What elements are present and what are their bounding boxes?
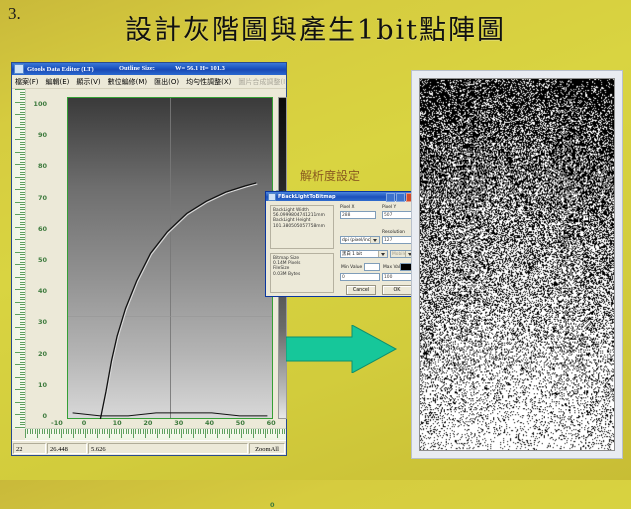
x-tick: 30: [174, 419, 183, 427]
y-tick: 20: [38, 350, 47, 358]
x-tick: 0: [82, 419, 87, 427]
chevron-down-icon[interactable]: [370, 237, 379, 243]
menu-export[interactable]: 匯出(O): [154, 77, 179, 87]
x-tick: 50: [236, 419, 245, 427]
luminance-curve-svg: [68, 98, 273, 419]
bitmap-output-panel: [411, 70, 623, 459]
min-color-swatch[interactable]: [364, 263, 380, 271]
y-tick: 90: [38, 131, 47, 139]
status-cell-x: 26.448: [47, 443, 87, 454]
backlight-to-bitmap-dialog: FBackLightToBitmap BackLight Width 56.09…: [265, 191, 418, 297]
backlight-height-value: 101.380505057758mm: [273, 224, 331, 229]
min-value-label: Min Value: [341, 265, 362, 270]
y-tick: 80: [38, 162, 47, 170]
backlight-info-group: BackLight Width 56.0999804741211mm BackL…: [270, 205, 334, 249]
cancel-button[interactable]: Cancel: [346, 285, 376, 295]
color-depth-value: 黑白 1 bit: [342, 252, 362, 257]
app-menubar: 檔案(F) 編輯(E) 顯示(V) 數位編修(M) 匯出(O) 均勻性調整(X)…: [12, 75, 286, 89]
pixel-x-input[interactable]: 288: [340, 211, 376, 219]
right-zero-label: 0: [270, 501, 275, 509]
x-tick: 20: [143, 419, 152, 427]
pixel-y-label: Pixel Y: [382, 205, 396, 210]
bitmap-info-group: Bitmap Size 0.14M Pixels FileSize 0.03M …: [270, 253, 334, 293]
y-tick: 30: [38, 318, 47, 326]
pixel-x-label: Pixel X: [340, 205, 355, 210]
y-tick: 50: [38, 256, 47, 264]
app-icon: [14, 64, 24, 74]
filesize-bytes-value: 0.03M Bytes: [273, 272, 331, 277]
status-zoom-all[interactable]: ZoomAll: [249, 443, 285, 454]
y-tick: 40: [38, 287, 47, 295]
outline-size-values: W= 56.1 H= 101.3: [175, 65, 225, 72]
resolution-setting-callout: 解析度設定: [300, 167, 360, 184]
y-axis-tick-labels: 1009080706050403020100: [27, 89, 47, 429]
page-title: 設計灰階圖與產生1bit點陣圖: [0, 8, 631, 47]
status-cell-1: 22: [13, 443, 46, 454]
status-cell-y: 5.626: [88, 443, 248, 454]
gtools-editor-window: Gtools Data Editor (LT) Outline Size: W=…: [11, 62, 287, 456]
min-value-input[interactable]: 0: [340, 273, 380, 281]
y-tick: 100: [33, 100, 47, 108]
ok-button[interactable]: OK: [382, 285, 412, 295]
statusbar: 22 26.448 5.626 ZoomAll: [12, 440, 286, 455]
dialog-body: BackLight Width 56.0999804741211mm BackL…: [266, 201, 417, 297]
y-tick: 60: [38, 225, 47, 233]
chart-area: 1009080706050403020100 46.6 0 -100102030…: [12, 89, 286, 441]
vertical-ruler: [12, 89, 26, 429]
dialog-titlebar[interactable]: FBackLightToBitmap: [266, 192, 417, 201]
menu-image-composite: 圖片合成調整(I): [238, 77, 286, 87]
process-arrow: [286, 325, 398, 373]
y-tick: 70: [38, 194, 47, 202]
menu-digital-edit[interactable]: 數位編修(M): [108, 77, 148, 87]
x-tick: 40: [205, 419, 214, 427]
y-tick: 10: [38, 381, 47, 389]
unit-select[interactable]: dpi (pixel/inch): [340, 236, 380, 244]
color-depth-select[interactable]: 黑白 1 bit: [340, 250, 388, 258]
dialog-title: FBackLightToBitmap: [278, 194, 336, 200]
menu-uniformity[interactable]: 均勻性調整(X): [186, 77, 231, 87]
menu-edit[interactable]: 編輯(E): [46, 77, 70, 87]
dithered-bitmap-image: [419, 78, 615, 451]
outline-size-label: Outline Size:: [119, 65, 155, 72]
app-titlebar[interactable]: Gtools Data Editor (LT) Outline Size: W=…: [12, 63, 286, 75]
chevron-down-icon[interactable]: [378, 251, 387, 257]
menu-file[interactable]: 檔案(F): [15, 77, 39, 87]
grayscale-gradient-plot[interactable]: [67, 97, 273, 419]
resolution-label: Resolution: [382, 230, 405, 235]
app-title: Gtools Data Editor (LT): [27, 66, 94, 73]
x-tick: -10: [51, 419, 63, 427]
menu-view[interactable]: 顯示(V): [76, 77, 100, 87]
x-tick: 60: [267, 419, 276, 427]
x-tick: 10: [113, 419, 122, 427]
dialog-icon: [268, 193, 276, 201]
